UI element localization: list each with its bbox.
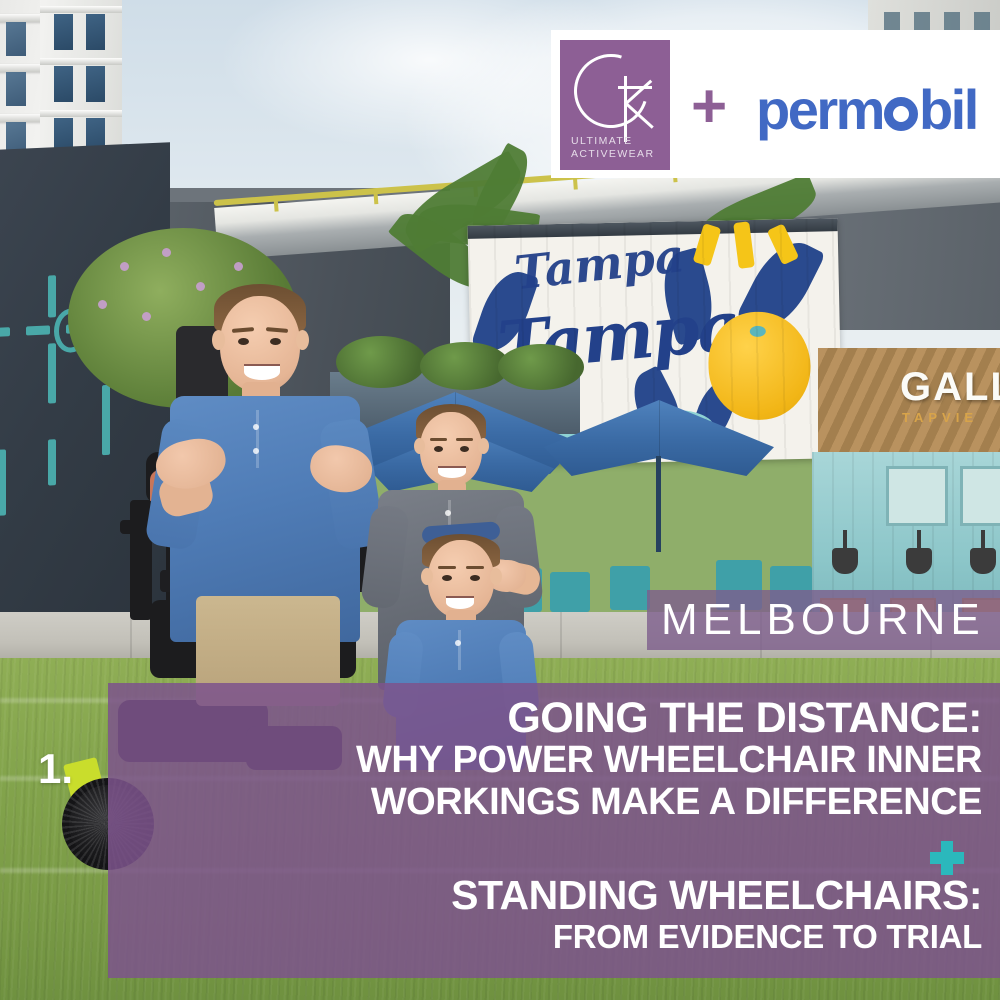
permobil-prefix: perm (756, 78, 883, 141)
brand-plus-icon: + (691, 76, 727, 138)
location-label: MELBOURNE (661, 596, 985, 644)
gk-tagline: ULTIMATE ACTIVEWEAR (571, 135, 667, 161)
patio-chair (550, 572, 590, 612)
session-title-block: GOING THE DISTANCE: WHY POWER WHEELCHAIR… (108, 683, 1000, 978)
gk-tagline-line1: ULTIMATE (571, 135, 667, 148)
patio-chair (610, 566, 650, 610)
sponsor-header-band: ULTIMATE ACTIVEWEAR + permbil (551, 30, 1000, 178)
gk-letter-k-stem (624, 76, 627, 142)
location-banner: MELBOURNE (647, 590, 1000, 650)
plus-icon (930, 841, 964, 875)
session-two-title-line2: FROM EVIDENCE TO TRIAL (553, 920, 982, 953)
sequence-number: 1. (38, 745, 73, 793)
gk-tagline-line2: ACTIVEWEAR (571, 148, 667, 161)
permobil-suffix: bil (919, 78, 977, 141)
session-one-title-line2: WHY POWER WHEELCHAIR INNER (356, 741, 982, 779)
session-two-title-line1: STANDING WHEELCHAIRS: (451, 875, 982, 916)
event-poster: Tampa Tampa GALL TAPVIE (0, 0, 1000, 1000)
venue-sign: GALL (900, 365, 1000, 410)
gk-letter-g-icon (561, 41, 661, 141)
permobil-logo: permbil (756, 82, 977, 138)
session-one-title-line3: WORKINGS MAKE A DIFFERENCE (371, 783, 982, 821)
gk-logo: ULTIMATE ACTIVEWEAR (560, 40, 670, 170)
venue-sign-subtitle: TAPVIE (902, 410, 978, 425)
permobil-o-icon (884, 97, 918, 131)
session-one-title-line1: GOING THE DISTANCE: (507, 697, 982, 740)
